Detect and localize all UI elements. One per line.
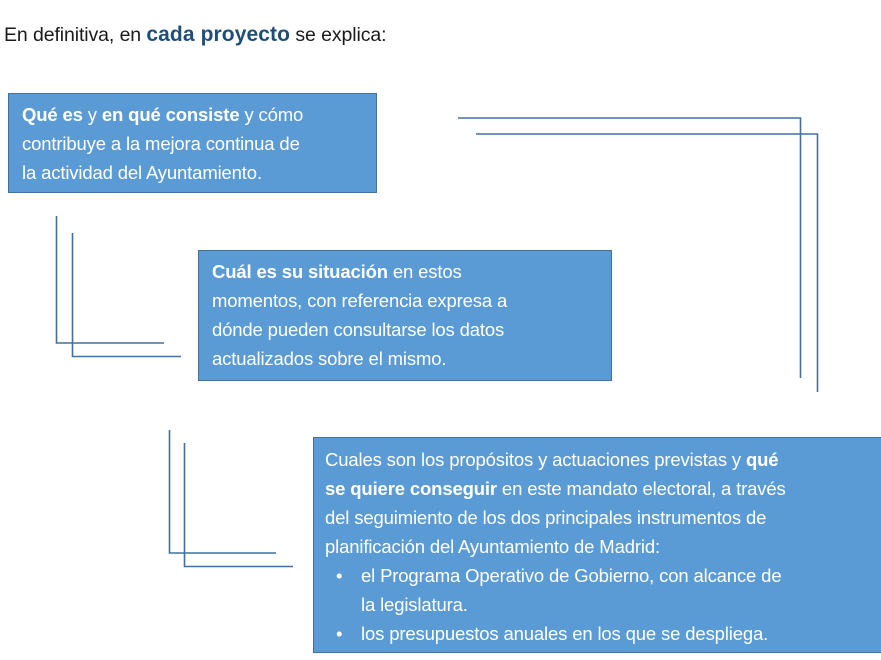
- callout-box-purposes-and-goals-text: Cuales son los propósitos y actuaciones …: [314, 438, 881, 652]
- bullet-list: • el Programa Operativo de Gobierno, con…: [325, 561, 872, 648]
- page-title-highlight: cada proyecto: [146, 23, 290, 46]
- text-line: se quiere conseguir en este mandato elec…: [325, 474, 872, 503]
- connector-left-upper-outer: [57, 216, 165, 343]
- text-run: Cuales son los propósitos y actuaciones …: [325, 449, 746, 470]
- page-title-prefix: En definitiva, en: [4, 24, 146, 46]
- text-run: y cómo: [239, 104, 303, 125]
- text-line: momentos, con referencia expresa a: [212, 286, 599, 315]
- text-line: Qué es y en qué consiste y cómo: [22, 100, 364, 129]
- slide-canvas: En definitiva, en cada proyecto se expli…: [0, 0, 881, 660]
- page-title: En definitiva, en cada proyecto se expli…: [4, 22, 386, 48]
- emphasis: Qué es: [22, 104, 83, 125]
- connector-left-lower-outer: [170, 430, 277, 553]
- text-line: el Programa Operativo de Gobierno, con a…: [361, 561, 872, 590]
- text-run: y: [83, 104, 102, 125]
- text-line: actualizados sobre el mismo.: [212, 344, 599, 373]
- emphasis: en qué consiste: [102, 104, 240, 125]
- page-title-suffix: se explica:: [290, 24, 386, 46]
- connector-left-upper-inner: [73, 233, 182, 357]
- text-line: los presupuestos anuales en los que se d…: [361, 619, 872, 648]
- callout-box-purposes-and-goals: Cuales son los propósitos y actuaciones …: [313, 437, 881, 653]
- text-run: en este mandato electoral, a través: [497, 478, 786, 499]
- text-line: Cuales son los propósitos y actuaciones …: [325, 445, 872, 474]
- text-run: en estos: [388, 261, 462, 282]
- text-line: Cuál es su situación en estos: [212, 257, 599, 286]
- text-line: dónde pueden consultarse los datos: [212, 315, 599, 344]
- list-item: • el Programa Operativo de Gobierno, con…: [325, 561, 872, 619]
- text-line: la actividad del Ayuntamiento.: [22, 158, 364, 187]
- list-item: • los presupuestos anuales en los que se…: [325, 619, 872, 648]
- connector-left-lower-inner: [185, 443, 294, 567]
- emphasis: se quiere conseguir: [325, 478, 497, 499]
- emphasis: qué: [746, 449, 778, 470]
- text-line: planificación del Ayuntamiento de Madrid…: [325, 532, 872, 561]
- text-line: del seguimiento de los dos principales i…: [325, 503, 872, 532]
- callout-box-current-situation: Cuál es su situación en estos momentos, …: [198, 250, 612, 381]
- bullet-marker-icon: •: [336, 619, 342, 648]
- text-line: la legislatura.: [361, 590, 872, 619]
- callout-box-what-it-is-text: Qué es y en qué consiste y cómo contribu…: [9, 94, 376, 193]
- callout-box-current-situation-text: Cuál es su situación en estos momentos, …: [199, 251, 611, 379]
- callout-box-what-it-is: Qué es y en qué consiste y cómo contribu…: [8, 93, 377, 193]
- emphasis: Cuál es su situación: [212, 261, 388, 282]
- text-line: contribuye a la mejora continua de: [22, 129, 364, 158]
- bullet-marker-icon: •: [336, 561, 342, 590]
